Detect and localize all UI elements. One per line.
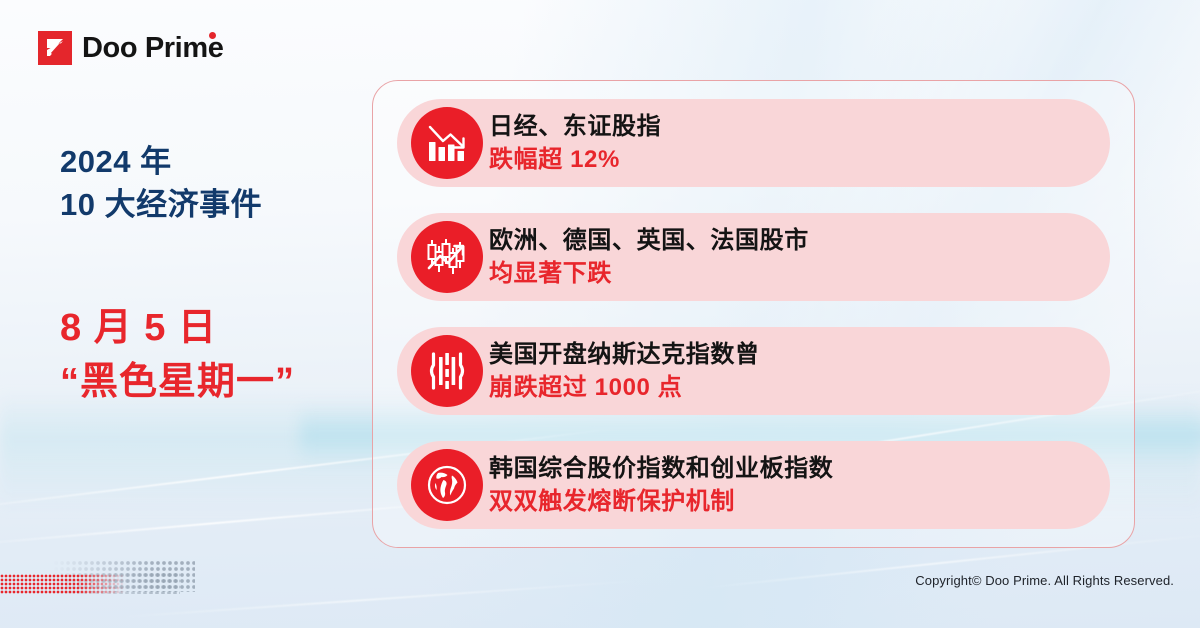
event-row-main: 韩国综合股价指数和创业板指数 (489, 454, 833, 483)
event-row: 美国开盘纳斯达克指数曾 崩跌超过 1000 点 (397, 327, 1110, 415)
event-row-main: 美国开盘纳斯达克指数曾 (489, 340, 760, 369)
page-title-line1: 2024 年 (60, 141, 262, 184)
copyright-notice: Copyright© Doo Prime. All Rights Reserve… (915, 573, 1174, 588)
event-row: 欧洲、德国、英国、法国股市 均显著下跌 (397, 213, 1110, 301)
page-title-line2: 10 大经济事件 (60, 184, 262, 227)
halftone-dots-red (0, 574, 126, 594)
page-title: 2024 年 10 大经济事件 (60, 141, 262, 227)
globe-icon (411, 449, 483, 521)
event-row-sub: 均显著下跌 (489, 259, 809, 288)
brand-logo-text: Doo Prime (82, 34, 223, 63)
event-row-sub: 崩跌超过 1000 点 (489, 373, 760, 402)
event-row-text: 韩国综合股价指数和创业板指数 双双触发熔断保护机制 (489, 454, 833, 516)
events-panel: 日经、东证股指 跌幅超 12% (372, 80, 1135, 548)
event-row-text: 欧洲、德国、英国、法国股市 均显著下跌 (489, 226, 809, 288)
poster-canvas: Doo Prime 2024 年 10 大经济事件 8 月 5 日 “黑色星期一… (0, 0, 1200, 628)
declining-bar-chart-icon (411, 107, 483, 179)
light-streak (121, 580, 640, 618)
event-row-main: 欧洲、德国、英国、法国股市 (489, 226, 809, 255)
page-subtitle: 8 月 5 日 “黑色星期一” (60, 302, 295, 410)
volatility-bars-icon (411, 335, 483, 407)
doo-prime-mark-icon (38, 31, 72, 65)
candlestick-chart-icon (411, 221, 483, 293)
event-row-text: 美国开盘纳斯达克指数曾 崩跌超过 1000 点 (489, 340, 760, 402)
event-row: 韩国综合股价指数和创业板指数 双双触发熔断保护机制 (397, 441, 1110, 529)
brand-logo: Doo Prime (38, 31, 223, 65)
event-row-sub: 跌幅超 12% (489, 145, 661, 174)
logo-accent-dot-icon (209, 32, 216, 39)
page-subtitle-line1: 8 月 5 日 (60, 302, 295, 356)
event-row-main: 日经、东证股指 (489, 112, 661, 141)
event-row-sub: 双双触发熔断保护机制 (489, 487, 833, 516)
event-row: 日经、东证股指 跌幅超 12% (397, 99, 1110, 187)
brand-logo-label: Doo Prime (82, 32, 223, 64)
event-row-text: 日经、东证股指 跌幅超 12% (489, 112, 661, 174)
page-subtitle-line2: “黑色星期一” (60, 356, 295, 410)
